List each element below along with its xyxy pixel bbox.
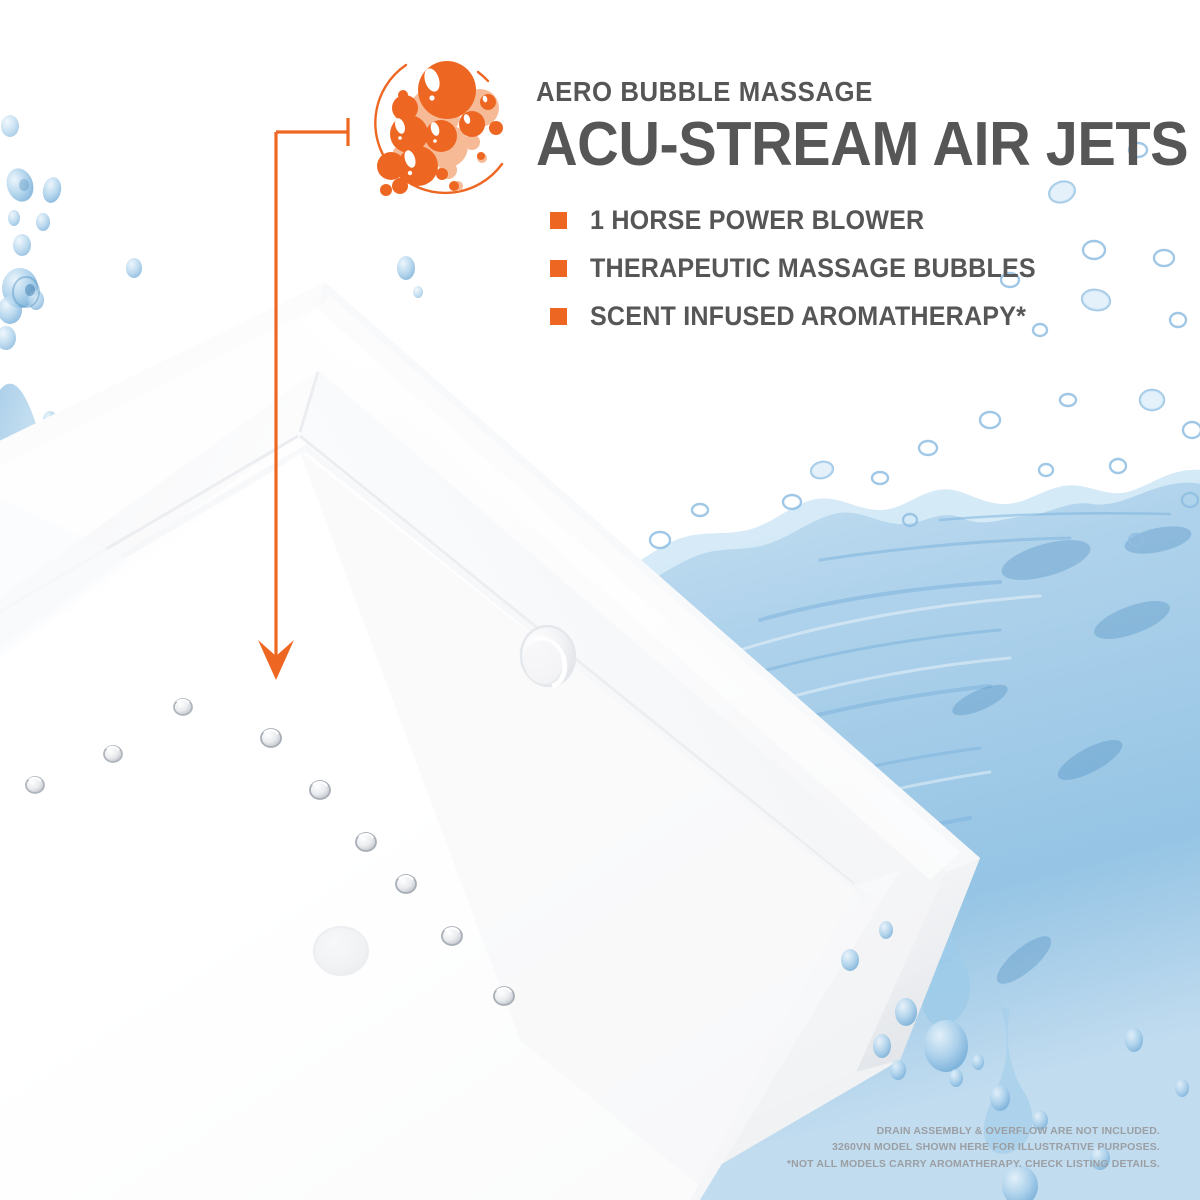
drain-hole <box>314 927 368 975</box>
bubbles-solid <box>377 61 503 196</box>
disclaimer-line: 3260VN MODEL SHOWN HERE FOR ILLUSTRATIVE… <box>787 1139 1160 1155</box>
page-title: ACU-STREAM AIR JETS <box>536 113 1131 176</box>
product-feature-graphic: AERO BUBBLE MASSAGE ACU-STREAM AIR JETS … <box>0 0 1200 1200</box>
list-item: SCENT INFUSED AROMATHERAPY* <box>550 292 1170 340</box>
disclaimer-line: *NOT ALL MODELS CARRY AROMATHERAPY. CHEC… <box>787 1156 1160 1172</box>
callout-leader-line <box>250 100 380 700</box>
disclaimer-line: DRAIN ASSEMBLY & OVERFLOW ARE NOT INCLUD… <box>787 1123 1160 1139</box>
ring-arc-right <box>478 72 488 81</box>
feature-label: THERAPEUTIC MASSAGE BUBBLES <box>590 253 1036 284</box>
feature-label: SCENT INFUSED AROMATHERAPY* <box>590 301 1026 332</box>
bathtub-product-image <box>0 0 1200 1200</box>
bullet-square-icon <box>550 308 567 325</box>
headline-block: AERO BUBBLE MASSAGE ACU-STREAM AIR JETS <box>536 78 1176 176</box>
feature-list: 1 HORSE POWER BLOWER THERAPEUTIC MASSAGE… <box>550 196 1170 340</box>
bullet-square-icon <box>550 260 567 277</box>
disclaimer-text: DRAIN ASSEMBLY & OVERFLOW ARE NOT INCLUD… <box>787 1123 1160 1172</box>
feature-label: 1 HORSE POWER BLOWER <box>590 205 924 236</box>
list-item: 1 HORSE POWER BLOWER <box>550 196 1170 244</box>
bubble-cluster-icon <box>362 46 528 212</box>
list-item: THERAPEUTIC MASSAGE BUBBLES <box>550 244 1170 292</box>
bullet-square-icon <box>550 212 567 229</box>
eyebrow-text: AERO BUBBLE MASSAGE <box>536 78 1125 106</box>
